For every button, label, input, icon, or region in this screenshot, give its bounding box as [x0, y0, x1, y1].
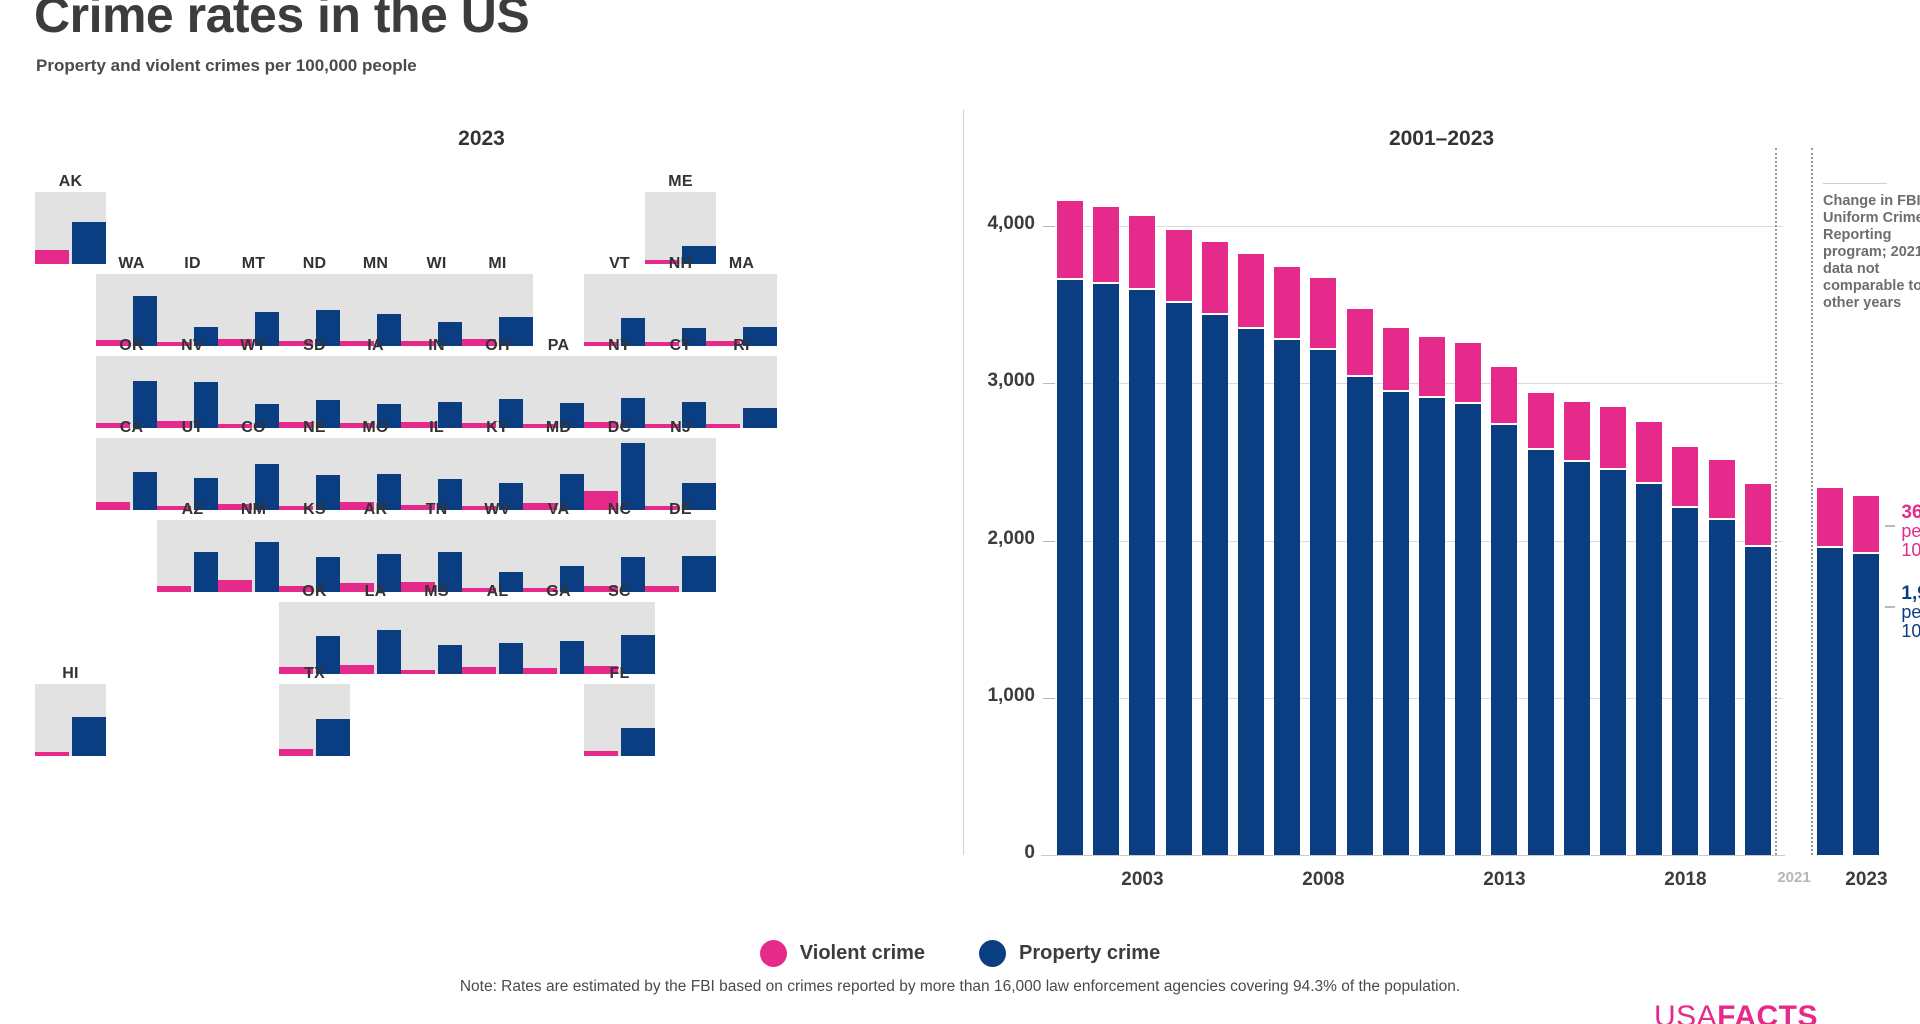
violent-crime-segment[interactable]	[1166, 230, 1192, 301]
violent-crime-bar[interactable]	[584, 751, 618, 756]
trend-bar-2014[interactable]	[1528, 0, 1554, 857]
ytick-dash	[1043, 698, 1055, 699]
state-abbr-label: RI	[706, 336, 777, 356]
trend-bar-2009[interactable]	[1347, 0, 1373, 857]
state-tile-mi[interactable]: MI	[462, 254, 533, 346]
trend-bar-2020[interactable]	[1745, 0, 1771, 857]
property-crime-bar[interactable]	[621, 728, 655, 756]
property-crime-segment[interactable]	[1564, 462, 1590, 855]
trend-bar-2006[interactable]	[1238, 0, 1264, 857]
ytick-label-0: 0	[963, 842, 1035, 864]
property-crime-segment[interactable]	[1853, 554, 1879, 855]
data-break-marker-2021	[1775, 148, 1813, 855]
property-crime-segment[interactable]	[1491, 425, 1517, 855]
state-plot-area	[645, 520, 716, 592]
callout-unit-line1: per	[1901, 603, 1920, 622]
state-abbr-label: AK	[35, 172, 106, 192]
legend-label: Property crime	[1019, 942, 1160, 965]
ytick-label-3000: 3,000	[963, 370, 1035, 392]
property-crime-segment[interactable]	[1347, 377, 1373, 855]
ytick-label-4000: 4,000	[963, 213, 1035, 235]
legend-label: Violent crime	[800, 942, 925, 965]
violent-crime-bar[interactable]	[462, 667, 496, 674]
property-crime-segment[interactable]	[1383, 392, 1409, 855]
property-crime-segment[interactable]	[1455, 404, 1481, 855]
state-tile-fl[interactable]: FL	[584, 664, 655, 756]
trend-bar-2023[interactable]	[1853, 0, 1879, 857]
trend-bar-2019[interactable]	[1709, 0, 1735, 857]
logo-thin: USA	[1654, 1000, 1717, 1024]
state-tile-hi[interactable]: HI	[35, 664, 106, 756]
violent-crime-segment[interactable]	[1419, 337, 1445, 396]
ytick-label-2000: 2,000	[963, 528, 1035, 550]
xtick-label-2023: 2023	[1845, 869, 1887, 891]
trend-bar-2012[interactable]	[1455, 0, 1481, 857]
violent-crime-segment[interactable]	[1274, 267, 1300, 338]
state-abbr-label: HI	[35, 664, 106, 684]
callout-property: 1,917per100K	[1901, 584, 1920, 641]
violent-crime-segment[interactable]	[1600, 407, 1626, 468]
state-abbr-label: ME	[645, 172, 716, 192]
state-plot-area	[706, 356, 777, 428]
property-crime-bar[interactable]	[72, 717, 106, 756]
state-plot-area	[35, 684, 106, 756]
violent-crime-segment[interactable]	[1238, 254, 1264, 327]
ucr-change-annotation: Change in FBI Uniform Crime Reporting pr…	[1823, 193, 1920, 312]
ytick-dash	[1043, 226, 1055, 227]
chart-legend: Violent crimeProperty crime	[0, 940, 1920, 967]
legend-item-property[interactable]: Property crime	[979, 940, 1160, 967]
trend-bar-2003[interactable]	[1129, 0, 1155, 857]
state-plot-area	[584, 684, 655, 756]
trend-bar-2011[interactable]	[1419, 0, 1445, 857]
state-tile-grid: AKMEWAIDMTNDMNWIMIVTNHMAORNVWYSDIAINOHPA…	[0, 0, 963, 900]
trend-bar-2016[interactable]	[1600, 0, 1626, 857]
property-crime-segment[interactable]	[1129, 290, 1155, 855]
property-crime-segment[interactable]	[1310, 350, 1336, 855]
logo-bold: FACTS	[1717, 1000, 1818, 1024]
violent-crime-segment[interactable]	[1455, 343, 1481, 402]
trend-bar-2022[interactable]	[1817, 0, 1843, 857]
state-abbr-label: MI	[462, 254, 533, 274]
property-crime-segment[interactable]	[1202, 315, 1228, 855]
property-crime-bar[interactable]	[743, 408, 777, 428]
callout-value: 1,917	[1901, 584, 1920, 603]
property-crime-segment[interactable]	[1274, 340, 1300, 855]
property-crime-segment[interactable]	[1600, 470, 1626, 855]
state-tile-ri[interactable]: RI	[706, 336, 777, 428]
trend-bar-2017[interactable]	[1636, 0, 1662, 857]
violent-crime-segment[interactable]	[1672, 447, 1698, 505]
violent-crime-bar[interactable]	[279, 749, 313, 756]
property-crime-segment[interactable]	[1057, 280, 1083, 855]
state-tile-tx[interactable]: TX	[279, 664, 350, 756]
usafacts-logo: USAFACTS	[1654, 1000, 1818, 1024]
callout-unit-line2: 100K	[1901, 541, 1920, 560]
violent-crime-bar[interactable]	[157, 586, 191, 592]
state-abbr-label: NJ	[645, 418, 716, 438]
property-crime-bar[interactable]	[682, 556, 716, 592]
state-tile-nj[interactable]: NJ	[645, 418, 716, 510]
violent-crime-segment[interactable]	[1491, 367, 1517, 423]
state-abbr-label: FL	[584, 664, 655, 684]
violent-crime-segment[interactable]	[1817, 488, 1843, 546]
property-crime-segment[interactable]	[1817, 548, 1843, 855]
callout-value: 364	[1901, 503, 1920, 522]
violent-crime-segment[interactable]	[1093, 207, 1119, 283]
callout-unit-line1: per	[1901, 522, 1920, 541]
trend-bar-2004[interactable]	[1166, 0, 1192, 857]
us-trend-chart: 01,0002,0003,0004,0002003200820132018202…	[963, 0, 1920, 900]
ytick-label-1000: 1,000	[963, 685, 1035, 707]
property-crime-segment[interactable]	[1636, 484, 1662, 855]
violent-crime-segment[interactable]	[1202, 242, 1228, 314]
callout-violent: 364per100K	[1901, 503, 1920, 560]
violent-crime-bar[interactable]	[35, 752, 69, 756]
annotation-rule	[1823, 183, 1887, 184]
callout-connector	[1885, 525, 1895, 527]
xtick-label-2013: 2013	[1483, 869, 1525, 891]
xtick-label-2008: 2008	[1302, 869, 1344, 891]
violent-crime-segment[interactable]	[1709, 460, 1735, 518]
circle-icon	[760, 940, 787, 967]
xtick-label-2003: 2003	[1121, 869, 1163, 891]
property-crime-segment[interactable]	[1745, 547, 1771, 855]
violent-crime-segment[interactable]	[1347, 309, 1373, 375]
callout-unit-line2: 100K	[1901, 622, 1920, 641]
trend-bar-2001[interactable]	[1057, 0, 1083, 857]
violent-crime-segment[interactable]	[1310, 278, 1336, 348]
violent-crime-bar[interactable]	[523, 668, 557, 674]
trend-bar-2018[interactable]	[1672, 0, 1698, 857]
trend-bar-2007[interactable]	[1274, 0, 1300, 857]
violent-crime-segment[interactable]	[1057, 201, 1083, 278]
violent-crime-bar[interactable]	[96, 502, 130, 510]
ytick-dash	[1043, 541, 1055, 542]
state-plot-area	[279, 684, 350, 756]
property-crime-segment[interactable]	[1238, 329, 1264, 855]
property-crime-segment[interactable]	[1672, 508, 1698, 855]
violent-crime-segment[interactable]	[1564, 402, 1590, 460]
property-crime-segment[interactable]	[1093, 284, 1119, 855]
footnote: Note: Rates are estimated by the FBI bas…	[0, 978, 1920, 996]
state-tile-ak[interactable]: AK	[35, 172, 106, 264]
violent-crime-segment[interactable]	[1383, 328, 1409, 390]
violent-crime-bar[interactable]	[35, 250, 69, 264]
property-crime-segment[interactable]	[1166, 303, 1192, 855]
trend-bar-2015[interactable]	[1564, 0, 1590, 857]
violent-crime-segment[interactable]	[1129, 216, 1155, 289]
trend-bar-2010[interactable]	[1383, 0, 1409, 857]
violent-crime-segment[interactable]	[1528, 393, 1554, 448]
violent-crime-segment[interactable]	[1745, 484, 1771, 545]
trend-bar-2008[interactable]	[1310, 0, 1336, 857]
xtick-label-2021: 2021	[1777, 869, 1810, 886]
trend-bar-2005[interactable]	[1202, 0, 1228, 857]
violent-crime-segment[interactable]	[1636, 422, 1662, 482]
circle-icon	[979, 940, 1006, 967]
property-crime-segment[interactable]	[1528, 450, 1554, 855]
state-abbr-label: DE	[645, 500, 716, 520]
state-tile-ma[interactable]: MA	[706, 254, 777, 346]
state-tile-de[interactable]: DE	[645, 500, 716, 592]
xtick-label-2018: 2018	[1664, 869, 1706, 891]
ytick-dash	[1043, 383, 1055, 384]
violent-crime-bar[interactable]	[218, 580, 252, 592]
violent-crime-bar[interactable]	[401, 670, 435, 674]
violent-crime-segment[interactable]	[1853, 496, 1879, 551]
state-abbr-label: MA	[706, 254, 777, 274]
property-crime-bar[interactable]	[316, 719, 350, 756]
property-crime-segment[interactable]	[1709, 520, 1735, 855]
state-tile-sc[interactable]: SC	[584, 582, 655, 674]
property-crime-segment[interactable]	[1419, 398, 1445, 855]
state-abbr-label: TX	[279, 664, 350, 684]
state-tile-me[interactable]: ME	[645, 172, 716, 264]
legend-item-violent[interactable]: Violent crime	[760, 940, 925, 967]
callout-connector	[1885, 606, 1895, 608]
state-abbr-label: SC	[584, 582, 655, 602]
trend-bar-2013[interactable]	[1491, 0, 1517, 857]
trend-bar-2002[interactable]	[1093, 0, 1119, 857]
